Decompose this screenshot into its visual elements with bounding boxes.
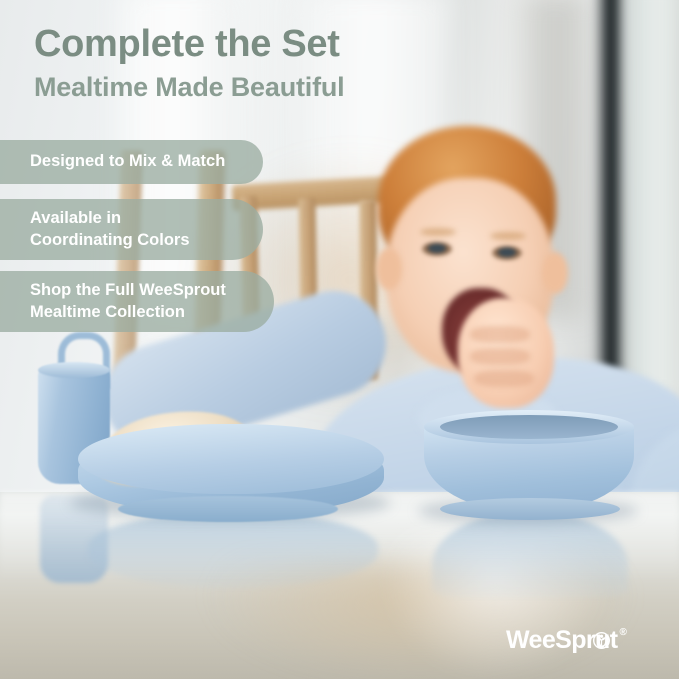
registered-trademark-symbol: ® <box>619 627 626 638</box>
child-eye <box>492 246 522 260</box>
plate-suction-base <box>118 496 338 522</box>
logo-wordmark: WeeSprut <box>506 626 617 655</box>
page-title: Complete the Set <box>34 24 340 64</box>
feature-pill-2-line2: Coordinating Colors <box>30 230 190 252</box>
feature-pill-2: Available in Coordinating Colors <box>0 199 263 260</box>
child-eye <box>422 242 452 256</box>
feature-pill-3: Shop the Full WeeSprout Mealtime Collect… <box>0 271 274 332</box>
child-finger <box>470 348 530 365</box>
child-eyebrow <box>420 228 456 236</box>
child-finger <box>474 370 534 387</box>
feature-pill-1: Designed to Mix & Match <box>0 140 263 184</box>
cup-rim <box>38 362 110 378</box>
child-subject <box>330 120 679 450</box>
brand-logo: WeeSprut ® <box>506 626 626 655</box>
child-ear <box>542 252 568 294</box>
child-eyebrow <box>490 232 526 240</box>
child-ear <box>376 248 402 290</box>
child-finger <box>470 326 530 343</box>
logo-text-part1: WeeSpr <box>506 626 595 654</box>
page-subtitle: Mealtime Made Beautiful <box>34 72 344 103</box>
feature-pill-3-line1: Shop the Full WeeSprout <box>30 280 226 302</box>
bowl-cavity <box>440 415 618 439</box>
bowl-suction-base <box>440 498 620 520</box>
feature-pill-3-line2: Mealtime Collection <box>30 302 226 324</box>
plate-reflection <box>88 512 378 588</box>
sprout-icon <box>593 632 610 649</box>
feature-pill-2-line1: Available in <box>30 208 190 230</box>
plate-rim <box>78 424 384 494</box>
feature-pill-1-line1: Designed to Mix & Match <box>30 151 225 173</box>
product-infographic: Complete the Set Mealtime Made Beautiful… <box>0 0 679 679</box>
